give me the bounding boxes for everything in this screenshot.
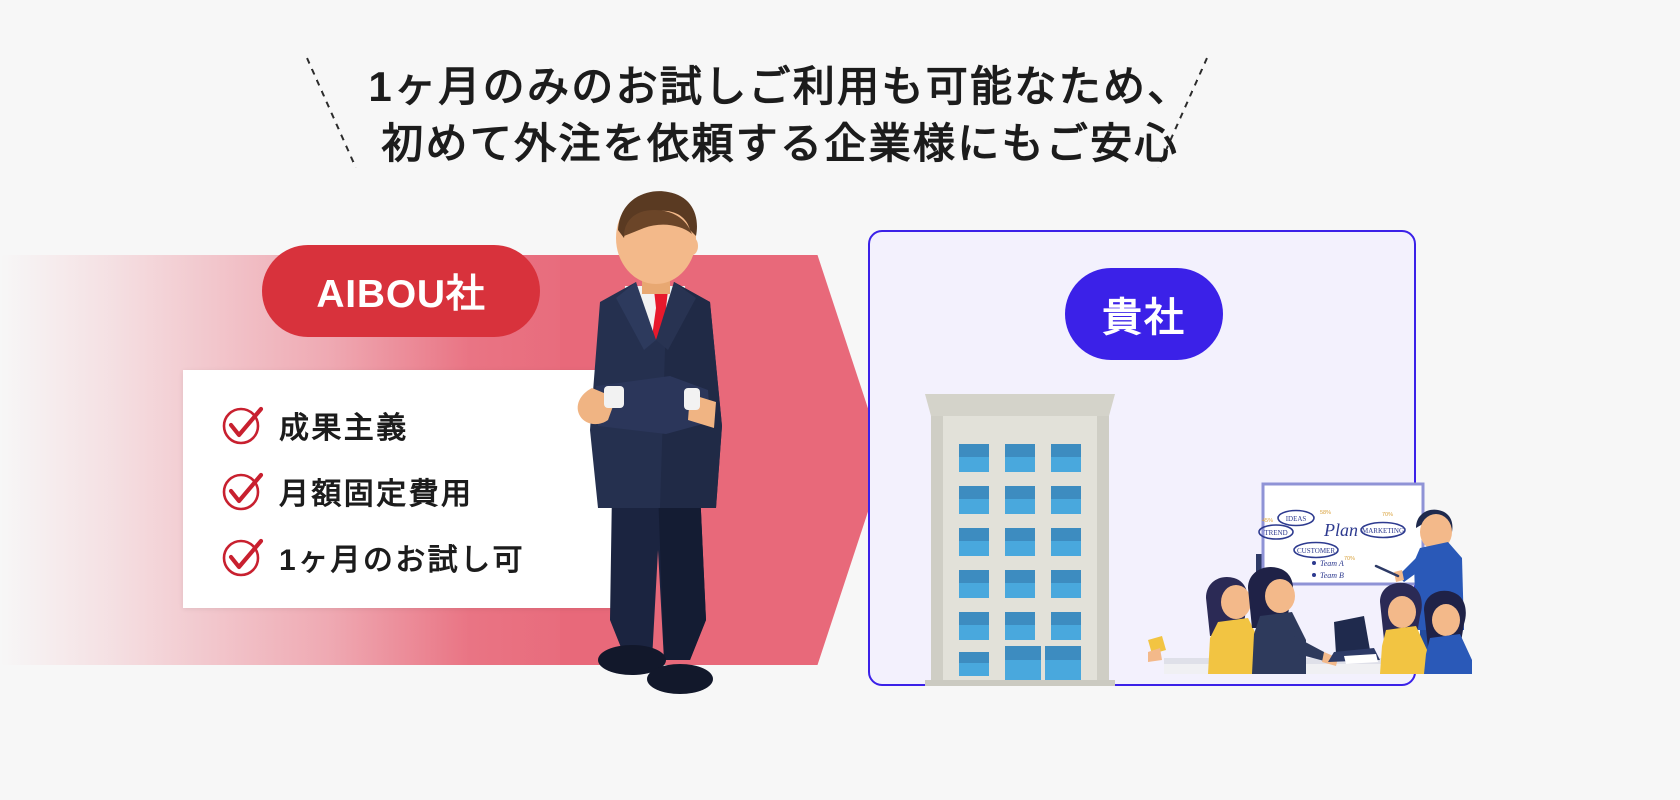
whiteboard-bullet-team-b: Team B (1320, 571, 1344, 580)
left-hand (1148, 648, 1162, 662)
client-company-badge: 貴社 (1065, 268, 1223, 360)
page-heading: 1ヶ月のみのお試しご利用も可能なため、 初めて外注を依頼する企業様にもご安心 (0, 58, 1560, 172)
check-circle-icon (217, 535, 273, 579)
list-item-label: 成果主義 (273, 403, 409, 447)
list-item-label: 月額固定費用 (273, 469, 473, 513)
whiteboard-percent-3: 70% (1382, 512, 1393, 518)
aibou-company-badge: AIBOU社 (262, 245, 540, 337)
businessman-illustration (540, 190, 770, 700)
check-circle-icon (217, 469, 273, 513)
whiteboard-bubble-marketing: MARKETING (1362, 527, 1404, 535)
office-building-icon (925, 394, 1115, 686)
client-company-badge-label: 貴社 (1102, 285, 1186, 343)
list-item-label: 1ヶ月のお試し可 (273, 535, 525, 579)
whiteboard-bubble-ideas: IDEAS (1286, 515, 1307, 523)
whiteboard-bubble-trend: TREND (1264, 529, 1287, 537)
heading-line-1: 1ヶ月のみのお試しご利用も可能なため、 (0, 58, 1560, 115)
aibou-company-badge-label: AIBOU社 (316, 263, 485, 319)
heading-line-2: 初めて外注を依頼する企業様にもご安心 (0, 115, 1560, 172)
whiteboard-bullet-team-a: Team A (1320, 559, 1344, 568)
slide-canvas: 1ヶ月のみのお試しご利用も可能なため、 初めて外注を依頼する企業様にもご安心 A… (0, 0, 1680, 800)
whiteboard-percent-4: 70% (1344, 556, 1355, 562)
team-meeting-illustration: Plan IDEAS TREND MARKETING CUSTOMER Team… (1148, 470, 1478, 692)
whiteboard-center-word: Plan (1323, 520, 1358, 540)
whiteboard-percent-1: 45% (1262, 518, 1273, 524)
check-circle-icon (217, 403, 273, 447)
whiteboard-bubble-customer: CUSTOMER (1297, 547, 1335, 555)
whiteboard-percent-2: 58% (1320, 510, 1331, 516)
